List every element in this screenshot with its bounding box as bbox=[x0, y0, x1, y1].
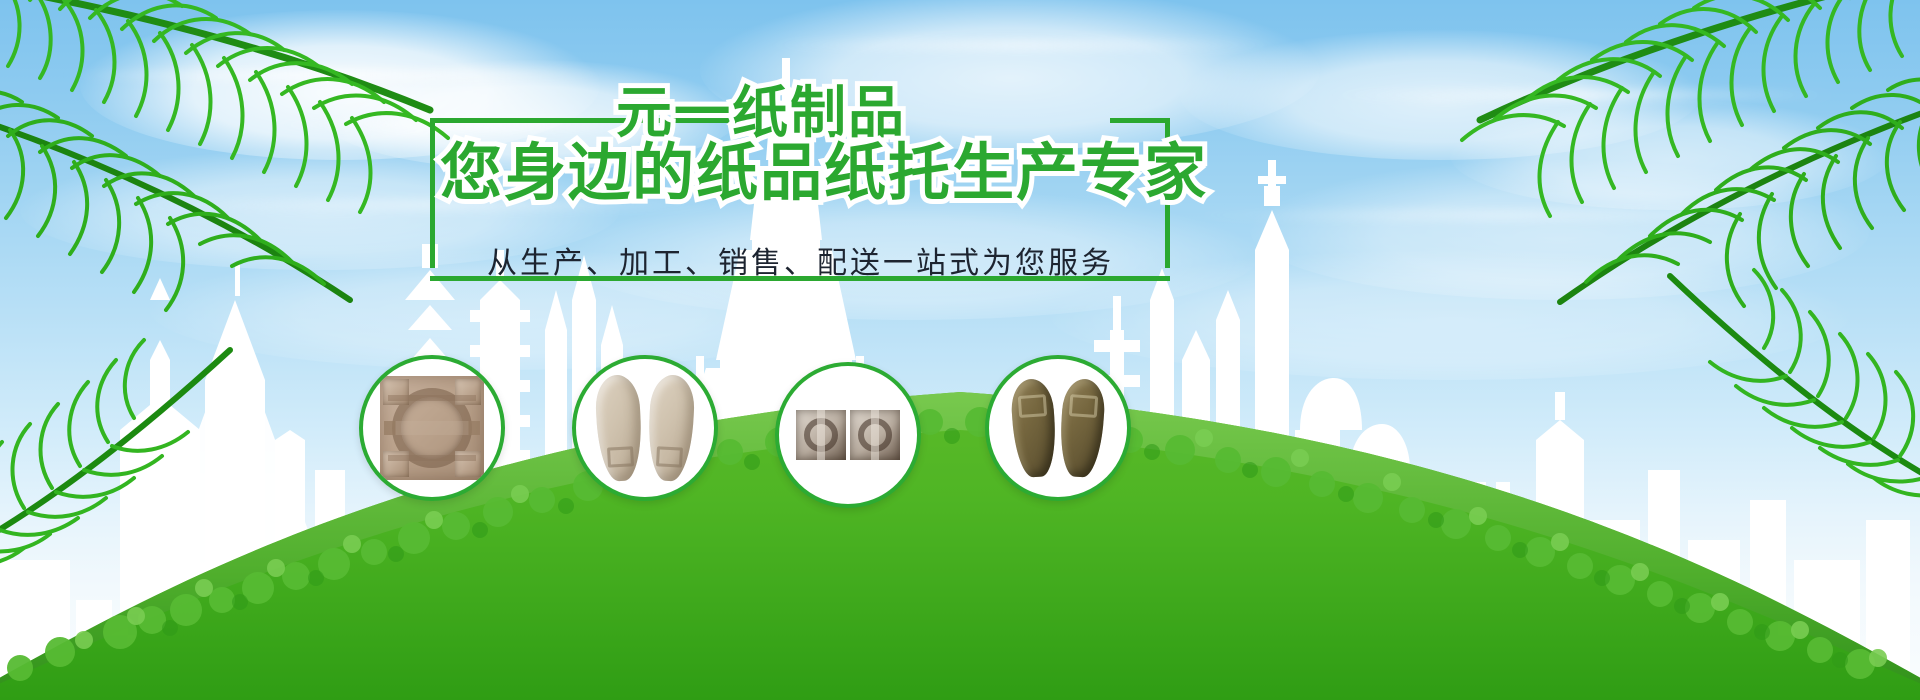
pulp-insert-trays-photo bbox=[779, 366, 917, 504]
promo-banner: 元一纸制品 您身边的纸品纸托生产专家 从生产、加工、销售、配送一站式为您服务 bbox=[0, 0, 1920, 700]
product-circle-3[interactable] bbox=[775, 362, 921, 508]
product-showcase bbox=[0, 0, 1920, 700]
paper-shoe-forms-photo bbox=[576, 359, 714, 497]
pulp-square-tray-photo bbox=[363, 359, 501, 497]
dark-paper-shoe-forms-photo bbox=[989, 359, 1127, 497]
product-circle-2[interactable] bbox=[572, 355, 718, 501]
product-circle-4[interactable] bbox=[985, 355, 1131, 501]
product-circle-1[interactable] bbox=[359, 355, 505, 501]
